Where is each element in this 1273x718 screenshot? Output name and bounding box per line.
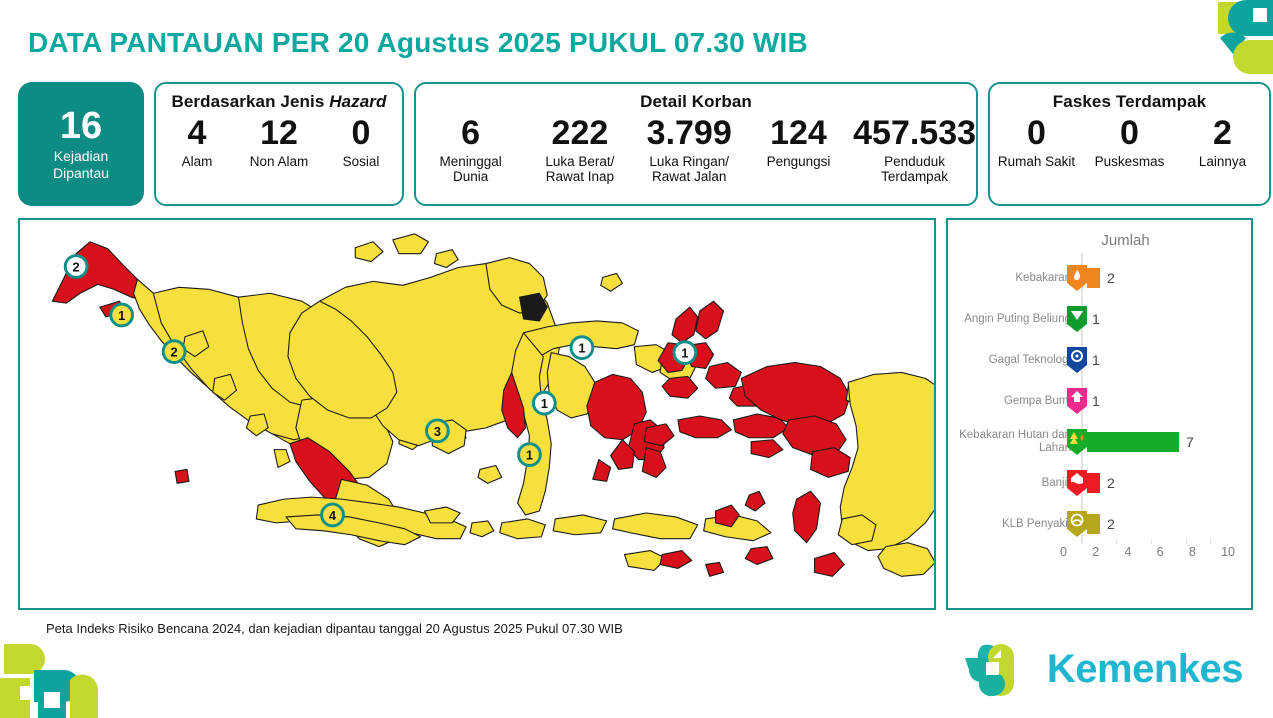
chart-label-gagal-teknologi: Gagal Teknologi (948, 354, 1076, 367)
faskes-card-title: Faskes Terdampak (990, 92, 1269, 112)
metric-alam-value: 4 (188, 116, 207, 152)
chart-label-banjir: Banjir (948, 477, 1076, 490)
metric-sosial: 0 Sosial (320, 116, 402, 169)
chart-row-gempa-bumi[interactable]: Gempa Bumi 1 (948, 382, 1251, 420)
map-marker-label: 3 (434, 424, 441, 439)
xtick-6: 6 (1157, 545, 1164, 559)
metric-non-alam: 12 Non Alam (238, 116, 320, 169)
metric-pengungsi: 124 Pengungsi (744, 116, 853, 169)
metric-non-alam-label: Non Alam (250, 154, 309, 170)
map-marker[interactable]: 1 (111, 304, 133, 326)
map-marker[interactable]: 1 (571, 337, 593, 359)
chart-row-klb-penyakit[interactable]: KLB Penyakit 2 (948, 505, 1251, 543)
metric-luka-ringan-label: Luka Ringan/ Rawat Jalan (649, 154, 729, 185)
xtick-10: 10 (1221, 545, 1235, 559)
metric-sosial-value: 0 (352, 116, 371, 152)
corner-decoration-bottom-left (0, 630, 118, 718)
chart-title: Jumlah (948, 232, 1251, 249)
map-marker-label: 1 (526, 448, 533, 463)
metric-meninggal-label: Meninggal Dunia (439, 154, 501, 185)
chart-label-kebakaran-hutan-dan-lahan: Kebakaran Hutan dan Lahan (948, 429, 1076, 455)
metric-lainnya-value: 2 (1213, 116, 1232, 152)
forest-fire-icon (1065, 428, 1089, 456)
card-jenis-hazard: Berdasarkan Jenis Hazard 4 Alam 12 Non A… (154, 82, 404, 206)
kemenkes-brand: Kemenkes (957, 638, 1243, 700)
page-title: DATA PANTAUAN PER 20 Agustus 2025 PUKUL … (28, 27, 808, 59)
map-marker-label: 2 (73, 259, 80, 274)
chart-row-angin-puting-beliung[interactable]: Angin Puting Beliung 1 (948, 300, 1251, 338)
map-landmasses (52, 234, 934, 576)
flood-icon (1065, 469, 1089, 497)
metric-puskesmas-value: 0 (1120, 116, 1139, 152)
chart-bar-kebakaran-hutan-dan-lahan (1087, 432, 1179, 452)
chart-label-klb-penyakit: KLB Penyakit (948, 518, 1076, 531)
indonesia-map[interactable]: 2 1 2 3 4 (20, 220, 934, 608)
technology-failure-icon (1065, 346, 1089, 374)
dashboard-page: DATA PANTAUAN PER 20 Agustus 2025 PUKUL … (0, 0, 1273, 718)
chart-value-gagal-teknologi: 1 (1092, 352, 1100, 368)
metric-penduduk-terdampak: 457.533 Penduduk Terdampak (853, 116, 976, 185)
card-faskes-terdampak: Faskes Terdampak 0 Rumah Sakit 0 Puskesm… (988, 82, 1271, 206)
whirlwind-icon (1065, 305, 1089, 333)
metric-penduduk-label: Penduduk Terdampak (881, 154, 948, 185)
hazard-title-emphasis: Hazard (329, 92, 386, 111)
korban-card-title: Detail Korban (416, 92, 976, 112)
xtick-4: 4 (1124, 545, 1131, 559)
chart-row-kebakaran[interactable]: Kebakaran 2 (948, 259, 1251, 297)
chart-value-banjir: 2 (1107, 475, 1115, 491)
metric-meninggal-value: 6 (461, 116, 480, 152)
metric-penduduk-value: 457.533 (853, 116, 976, 152)
brand-name: Kemenkes (1047, 647, 1243, 692)
map-marker-label: 1 (578, 341, 585, 356)
metric-luka-ringan: 3.799 Luka Ringan/ Rawat Jalan (635, 116, 744, 185)
map-marker[interactable]: 3 (427, 420, 449, 442)
chart-x-axis: 0 2 4 6 8 10 (1060, 545, 1235, 559)
indonesia-risk-map-panel[interactable]: 2 1 2 3 4 (18, 218, 936, 610)
card-detail-korban: Detail Korban 6 Meninggal Dunia 222 Luka… (414, 82, 978, 206)
kejadian-count: 16 (60, 107, 102, 145)
korban-metrics: 6 Meninggal Dunia 222 Luka Berat/ Rawat … (416, 116, 976, 185)
corner-decoration-top-right (1158, 0, 1273, 85)
card-kejadian-dipantau: 16 Kejadian Dipantau (18, 82, 144, 206)
chart-value-gempa-bumi: 1 (1092, 393, 1100, 409)
map-marker-label: 1 (681, 346, 688, 361)
metric-sosial-label: Sosial (343, 154, 380, 170)
metric-alam: 4 Alam (156, 116, 238, 169)
hazard-card-title: Berdasarkan Jenis Hazard (156, 92, 402, 112)
xtick-0: 0 (1060, 545, 1067, 559)
map-marker-label: 1 (118, 308, 125, 323)
metric-luka-ringan-value: 3.799 (647, 116, 732, 152)
hazard-count-chart-panel: Jumlah Kebakaran 2 Angin Puting Beliung (946, 218, 1253, 610)
map-marker[interactable]: 1 (533, 392, 555, 414)
hazard-metrics: 4 Alam 12 Non Alam 0 Sosial (156, 116, 402, 169)
disease-outbreak-icon (1065, 510, 1089, 538)
map-marker-label: 2 (171, 345, 178, 360)
chart-row-kebakaran-hutan-dan-lahan[interactable]: Kebakaran Hutan dan Lahan 7 (948, 423, 1251, 461)
map-marker-label: 1 (541, 396, 548, 411)
map-marker[interactable]: 1 (519, 444, 541, 466)
map-marker-label: 4 (329, 508, 337, 523)
chart-value-angin-puting-beliung: 1 (1092, 311, 1100, 327)
chart-label-angin-puting-beliung: Angin Puting Beliung (948, 313, 1076, 326)
metric-luka-berat: 222 Luka Berat/ Rawat Inap (525, 116, 634, 185)
metric-puskesmas: 0 Puskesmas (1083, 116, 1176, 169)
chart-row-gagal-teknologi[interactable]: Gagal Teknologi 1 (948, 341, 1251, 379)
metric-luka-berat-value: 222 (552, 116, 609, 152)
xtick-8: 8 (1189, 545, 1196, 559)
metric-lainnya-label: Lainnya (1199, 154, 1246, 170)
hazard-title-main: Berdasarkan Jenis (171, 92, 329, 111)
metric-luka-berat-label: Luka Berat/ Rawat Inap (545, 154, 614, 185)
stat-cards-row: 16 Kejadian Dipantau Berdasarkan Jenis H… (18, 82, 1251, 206)
chart-label-kebakaran: Kebakaran (948, 272, 1076, 285)
footer-source-note: Peta Indeks Risiko Bencana 2024, dan kej… (46, 621, 623, 636)
metric-puskesmas-label: Puskesmas (1095, 154, 1165, 170)
chart-value-klb-penyakit: 2 (1107, 516, 1115, 532)
map-marker[interactable]: 2 (163, 341, 185, 363)
kejadian-label-line1: Kejadian (54, 148, 109, 164)
metric-pengungsi-value: 124 (770, 116, 827, 152)
map-marker[interactable]: 4 (322, 504, 344, 526)
metric-lainnya: 2 Lainnya (1176, 116, 1269, 169)
metric-meninggal-dunia: 6 Meninggal Dunia (416, 116, 525, 185)
kemenkes-logo-icon (957, 638, 1033, 700)
map-marker[interactable]: 2 (65, 256, 87, 278)
metric-rumah-sakit-value: 0 (1027, 116, 1046, 152)
earthquake-icon (1065, 387, 1089, 415)
xtick-2: 2 (1092, 545, 1099, 559)
chart-value-kebakaran: 2 (1107, 270, 1115, 286)
metric-rumah-sakit: 0 Rumah Sakit (990, 116, 1083, 169)
metric-rumah-sakit-label: Rumah Sakit (998, 154, 1075, 170)
chart-body: Kebakaran 2 Angin Puting Beliung 1 (948, 253, 1251, 563)
chart-value-kebakaran-hutan-dan-lahan: 7 (1186, 434, 1194, 450)
metric-non-alam-value: 12 (260, 116, 298, 152)
map-marker[interactable]: 1 (674, 342, 696, 364)
chart-row-banjir[interactable]: Banjir 2 (948, 464, 1251, 502)
chart-label-gempa-bumi: Gempa Bumi (948, 395, 1076, 408)
fire-icon (1065, 264, 1089, 292)
kejadian-label-line2: Dipantau (53, 165, 109, 181)
faskes-metrics: 0 Rumah Sakit 0 Puskesmas 2 Lainnya (990, 116, 1269, 169)
metric-pengungsi-label: Pengungsi (767, 154, 831, 170)
metric-alam-label: Alam (182, 154, 213, 170)
